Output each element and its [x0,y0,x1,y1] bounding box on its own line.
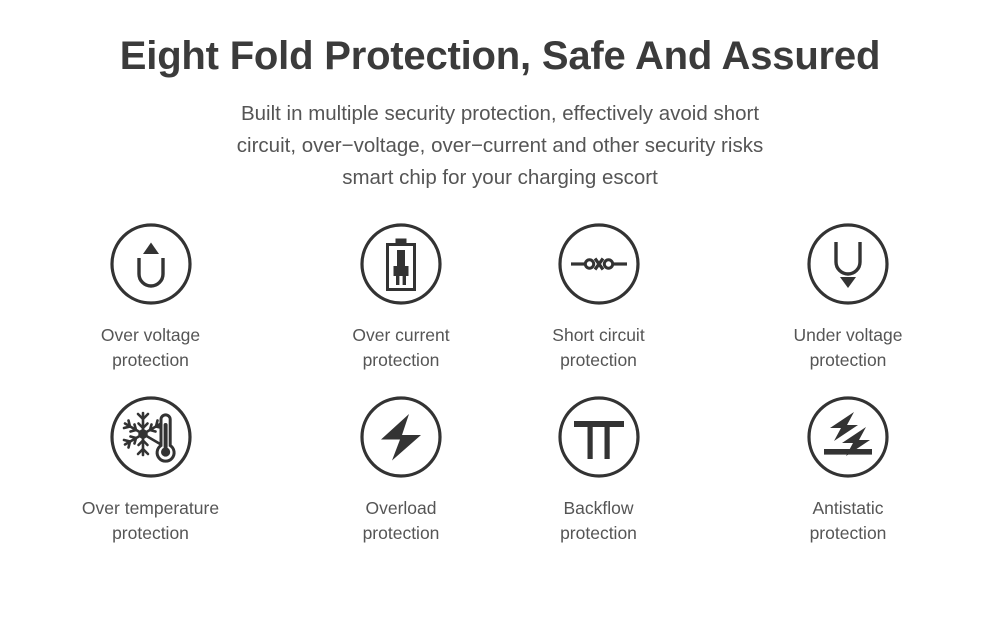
feature-label-line-1: Under voltage [696,323,1000,348]
subtitle-line-2: circuit, over−voltage, over−current and … [150,130,850,162]
feature-item-under-voltage: Under voltage protection [696,222,1000,373]
feature-item-short-circuit: Short circuit protection [501,222,696,373]
subtitle-line-1: Built in multiple security protection, e… [150,98,850,130]
feature-label-line-1: Antistatic [696,496,1000,521]
feature-label: Over voltage protection [0,323,301,373]
feature-label-line-2: protection [0,348,301,373]
feature-label-line-1: Backflow [501,496,696,521]
protection-features-page: Eight Fold Protection, Safe And Assured … [0,0,1000,623]
feature-item-over-current: Over current protection [301,222,501,373]
feature-item-antistatic: Antistatic protection [696,395,1000,546]
page-subtitle: Built in multiple security protection, e… [150,98,850,193]
feature-label-line-2: protection [501,521,696,546]
feature-label: Backflow protection [501,496,696,546]
backflow-pi-icon [557,395,641,479]
feature-label-line-2: protection [696,348,1000,373]
feature-label-line-2: protection [0,521,301,546]
feature-label-line-2: protection [696,521,1000,546]
feature-label: Short circuit protection [501,323,696,373]
over-temperature-snowflake-thermometer-icon [109,395,193,479]
feature-row-1: Over voltage protection [0,222,1000,373]
short-circuit-icon [557,222,641,306]
page-header: Eight Fold Protection, Safe And Assured … [0,0,1000,193]
feature-label-line-2: protection [301,348,501,373]
feature-label-line-1: Over temperature [0,496,301,521]
overload-lightning-bolt-icon [359,395,443,479]
over-current-battery-plug-icon [359,222,443,306]
feature-label: Under voltage protection [696,323,1000,373]
feature-label-line-1: Over current [301,323,501,348]
feature-label-line-2: protection [501,348,696,373]
feature-item-over-voltage: Over voltage protection [0,222,301,373]
feature-item-backflow: Backflow protection [501,395,696,546]
feature-item-over-temperature: Over temperature protection [0,395,301,546]
feature-label-line-2: protection [301,521,501,546]
feature-label-line-1: Over voltage [0,323,301,348]
feature-label-line-1: Overload [301,496,501,521]
page-title: Eight Fold Protection, Safe And Assured [0,34,1000,78]
subtitle-line-3: smart chip for your charging escort [150,162,850,194]
feature-label: Antistatic protection [696,496,1000,546]
antistatic-esd-icon [806,395,890,479]
feature-label: Over current protection [301,323,501,373]
feature-grid: Over voltage protection [0,222,1000,545]
feature-row-2: Over temperature protection Overload pro… [0,395,1000,546]
feature-item-overload: Overload protection [301,395,501,546]
feature-label: Over temperature protection [0,496,301,546]
feature-label: Overload protection [301,496,501,546]
under-voltage-icon [806,222,890,306]
over-voltage-icon [109,222,193,306]
feature-label-line-1: Short circuit [501,323,696,348]
